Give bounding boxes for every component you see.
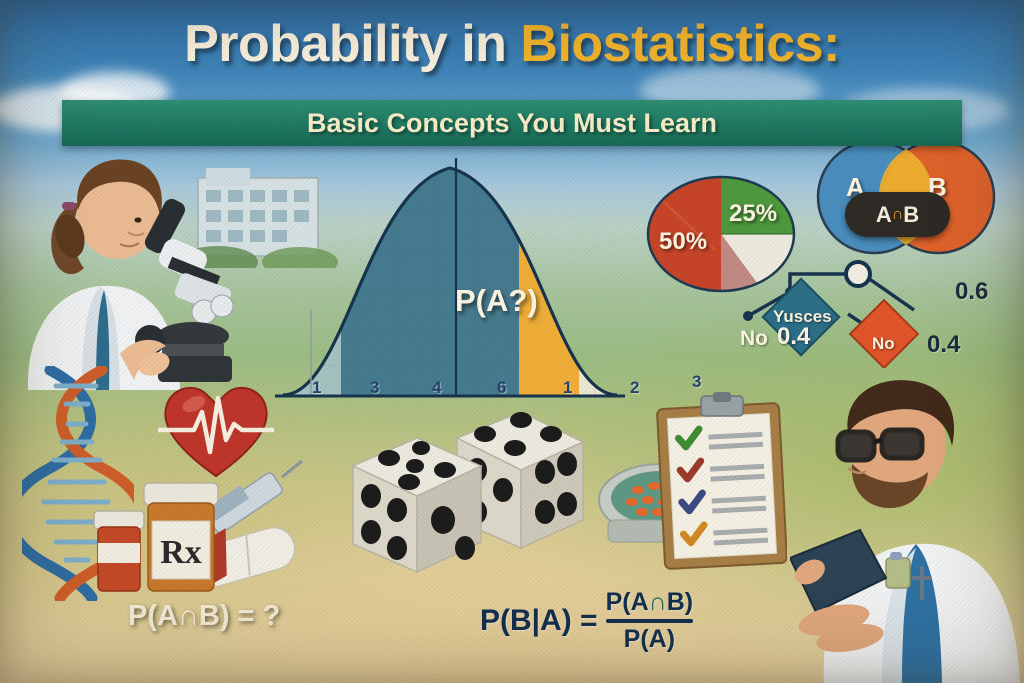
title-part-biostatistics: Biostatistics: [520,15,840,73]
tree-label-left-no: No [740,327,768,351]
bell-curve-chart [275,150,625,400]
pill-bottles-rx-illustration: Rx [86,455,316,595]
tree-prob-left: 0.4 [777,323,810,351]
conditional-formula-denominator: P(A) [624,625,675,654]
axis-tick-6: 3 [692,372,701,392]
numerator-intersection-icon: ∩ [649,588,667,616]
female-scientist-microscope-illustration [8,140,238,390]
intersection-formula: P(A∩B) = ? [128,600,280,633]
small-bottle-illustration [94,511,144,591]
conditional-formula-numerator: P(A∩B) [606,588,694,617]
axis-tick-4: 1 [563,378,572,398]
tree-prob-upper: 0.6 [955,278,988,306]
venn-intersection-a: A [876,202,892,228]
intersection-symbol-icon: ∩ [892,206,904,224]
page-title: Probability in Biostatistics: [0,18,1024,70]
conditional-probability-formula: P(B|A) = P(A∩B) P(A) [480,588,693,654]
venn-intersection-badge: A∩B [845,192,950,237]
numerator-b: B) [667,588,693,616]
axis-tick-0: 1 [312,378,321,398]
conditional-formula-lhs: P(B|A) = [480,604,598,638]
axis-tick-3: 6 [497,378,506,398]
fraction-bar [606,619,694,623]
axis-tick-5: 2 [630,378,639,398]
title-part-probability: Probability in [184,15,520,73]
axis-tick-1: 3 [370,378,379,398]
clipboard-checklist-illustration [655,392,787,572]
tree-node-no-label: No [872,334,895,354]
venn-intersection-b: B [903,202,919,228]
rx-bottle-illustration: Rx [144,483,218,591]
page-subtitle: Basic Concepts You Must Learn [307,108,717,139]
two-dice-illustration [345,408,595,583]
conditional-formula-fraction: P(A∩B) P(A) [606,588,694,654]
infographic-poster: P(A?) 1 3 4 6 1 2 3 50% 25% A B A∩B [0,0,1024,683]
axis-tick-2: 4 [432,378,441,398]
svg-text:Rx: Rx [160,534,202,571]
bell-curve-probability-label: P(A?) [455,283,538,319]
tree-prob-lower: 0.4 [927,331,960,359]
male-scientist-tablet-illustration [790,372,1024,683]
numerator-pa: P(A [606,588,649,616]
pie-slice-label-50: 50% [659,228,707,256]
die-left [353,438,481,572]
pie-slice-label-25: 25% [729,200,777,228]
subtitle-ribbon: Basic Concepts You Must Learn [62,100,962,146]
